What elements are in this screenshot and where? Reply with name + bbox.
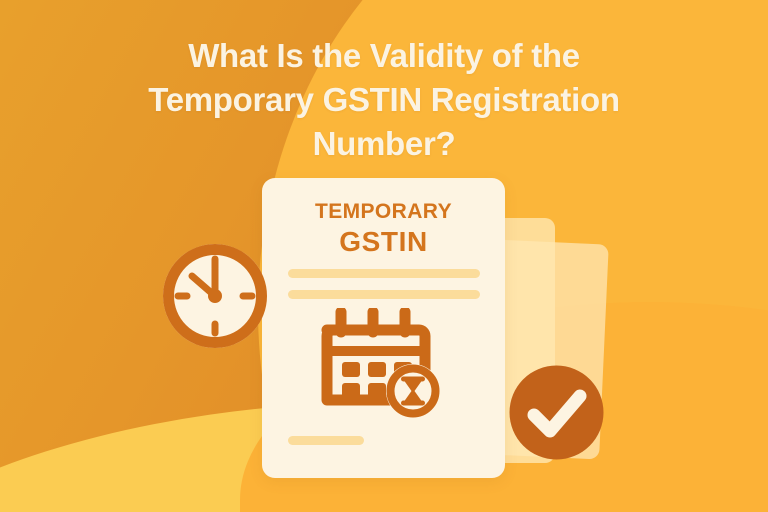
page-title: What Is the Validity of the Temporary GS… [0,34,768,166]
document-text-line-2 [288,290,480,299]
page-title-line-1: What Is the Validity of the [60,34,708,78]
document-text-line-3 [288,436,364,445]
clock-icon [162,243,268,349]
calendar-icon [320,308,448,426]
check-circle-icon [509,365,604,460]
page-title-line-2: Temporary GSTIN Registration [60,78,708,122]
page-title-line-3: Number? [60,122,708,166]
document-card: TEMPORARY GSTIN [262,178,505,478]
document-heading-small: TEMPORARY [262,200,505,224]
document-text-line-1 [288,269,480,278]
hourglass-icon [386,364,440,418]
infographic-canvas: What Is the Validity of the Temporary GS… [0,0,768,512]
document-heading-large: GSTIN [262,226,505,258]
